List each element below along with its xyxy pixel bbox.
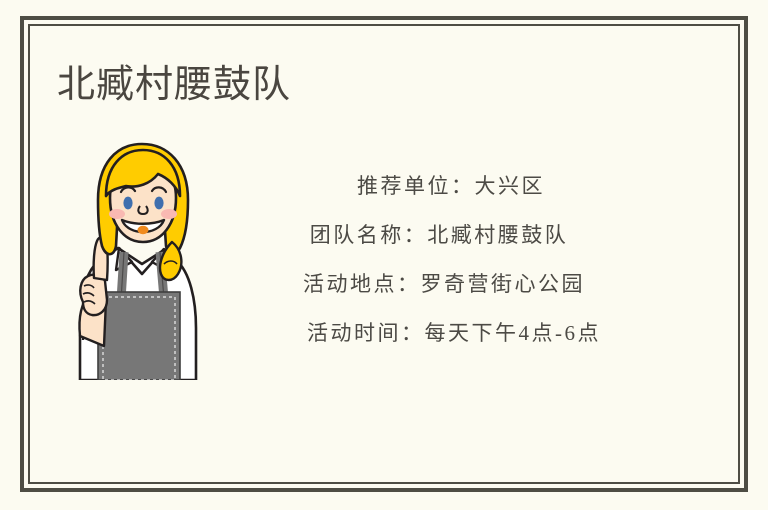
face-group [106, 150, 180, 242]
cartoon-woman-illustration [72, 140, 212, 380]
page-title: 北臧村腰鼓队 [57, 62, 291, 108]
info-line-recommending-unit: 推荐单位：大兴区 [228, 162, 648, 211]
info-line-activity-location: 活动地点：罗奇营街心公园 [228, 260, 648, 309]
cartoon-woman-svg [72, 140, 212, 380]
poster-canvas: 北臧村腰鼓队 [0, 0, 768, 510]
pointing-hand-group [79, 237, 107, 346]
info-line-team-name: 团队名称：北臧村腰鼓队 [228, 211, 648, 260]
event-info-block: 推荐单位：大兴区 团队名称：北臧村腰鼓队 活动地点：罗奇营街心公园 活动时间：每… [228, 162, 648, 358]
info-line-activity-time: 活动时间：每天下午4点-6点 [228, 309, 648, 358]
